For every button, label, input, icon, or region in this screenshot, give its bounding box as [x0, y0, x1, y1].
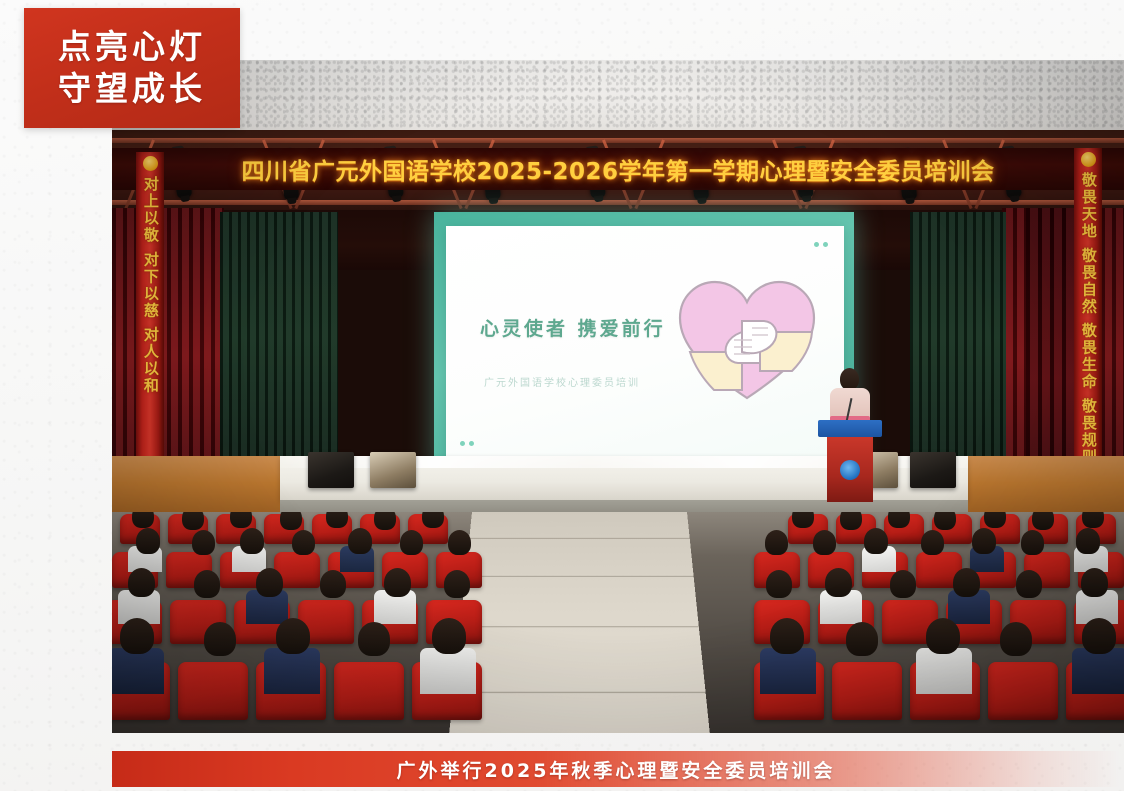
stage-monitor [308, 452, 354, 488]
audience-head [128, 568, 155, 597]
audience-torso [916, 648, 972, 694]
heart-with-hands-icon [672, 266, 822, 416]
stage-banner: 四川省广元外国语学校2025-2026学年第一学期心理暨安全委员培训会 [112, 148, 1124, 190]
audience-head [825, 568, 852, 597]
slide-subtitle: 广元外国语学校心理委员培训 [484, 374, 640, 389]
audience-head [1082, 618, 1116, 654]
audience-area [112, 512, 1124, 733]
slide-title: 心灵使者 携爱前行 [480, 314, 666, 341]
ceiling-surface [112, 60, 1124, 138]
audience-head [204, 622, 236, 656]
audience-head [230, 512, 252, 528]
audience-head [953, 568, 980, 597]
audience-head [194, 570, 220, 598]
audience-head [840, 512, 862, 530]
banner-emblem-icon [1081, 152, 1096, 167]
audience-head [432, 618, 466, 654]
audience-head [256, 568, 283, 597]
side-banner-left-text: 对上以敬 对下以慈 对人以和 [142, 176, 158, 394]
audience-head [1016, 570, 1042, 598]
center-aisle [444, 512, 715, 733]
audience-torso [112, 648, 164, 694]
truss-bar-bottom [112, 200, 1124, 205]
audience-head [182, 512, 204, 530]
badge-line-1: 点亮心灯 [58, 26, 206, 68]
audience-head [348, 528, 372, 554]
audience-head [921, 530, 944, 555]
side-banner-right: 敬畏天地 敬畏自然 敬畏生命 敬畏规则 敬畏孩子 [1074, 148, 1102, 498]
audience-head [765, 530, 788, 555]
audience-head [120, 618, 154, 654]
stage-banner-text: 四川省广元外国语学校2025-2026学年第一学期心理暨安全委员培训会 [241, 152, 994, 186]
slide-dots-icon [814, 242, 828, 247]
audience-head [1081, 568, 1108, 597]
presentation-slide: 心灵使者 携爱前行 广元外国语学校心理委员培训 [446, 226, 844, 462]
audience-head [422, 512, 444, 528]
audience-head [192, 530, 215, 555]
audience-head [136, 528, 160, 554]
audience-head [276, 618, 310, 654]
stage-monitor [370, 452, 416, 488]
seat [178, 662, 248, 720]
seat [832, 662, 902, 720]
audience-head [792, 512, 814, 528]
side-banner-left: 对上以敬 对下以慈 对人以和 [136, 152, 164, 482]
audience-head [358, 622, 390, 656]
audience-head [444, 570, 470, 598]
audience-head [1000, 622, 1032, 656]
audience-head [846, 622, 878, 656]
audience-head [292, 530, 315, 555]
audience-head [770, 618, 804, 654]
audience-torso [1072, 648, 1124, 694]
audience-head [766, 570, 792, 598]
podium [818, 390, 882, 502]
audience-torso [420, 648, 476, 694]
audience-head [888, 512, 910, 528]
slide-dots-icon [460, 441, 474, 446]
audience-head [132, 512, 154, 528]
audience-head [326, 512, 348, 528]
stage-monitor [910, 452, 956, 488]
audience-head [1021, 530, 1044, 555]
audience-head [864, 528, 888, 554]
audience-head [280, 512, 302, 530]
badge-line-2: 守望成长 [58, 68, 206, 110]
banner-emblem-icon [143, 156, 158, 171]
audience-head [926, 618, 960, 654]
caption-text: 广外举行2025年秋季心理暨安全委员培训会 [397, 756, 836, 783]
audience-head [813, 530, 836, 555]
audience-head [240, 528, 264, 554]
seat [334, 662, 404, 720]
news-photo-card: 四川省广元外国语学校2025-2026学年第一学期心理暨安全委员培训会 对上以敬… [0, 0, 1124, 791]
audience-head [972, 528, 996, 554]
projection-screen: 心灵使者 携爱前行 广元外国语学校心理委员培训 [434, 212, 854, 474]
seat [988, 662, 1058, 720]
audience-head [320, 570, 346, 598]
audience-head [1032, 512, 1054, 530]
caption-bar: 广外举行2025年秋季心理暨安全委员培训会 [112, 751, 1120, 787]
audience-head [890, 570, 916, 598]
podium-top [818, 420, 882, 437]
audience-head [1076, 528, 1100, 554]
side-banner-right-text: 敬畏天地 敬畏自然 敬畏生命 敬畏规则 敬畏孩子 [1080, 172, 1096, 498]
audience-head [1082, 512, 1104, 528]
audience-torso [264, 648, 320, 694]
audience-head [984, 512, 1006, 528]
headline-badge: 点亮心灯 守望成长 [24, 8, 240, 128]
audience-torso [760, 648, 816, 694]
audience-head [374, 512, 396, 530]
audience-head [448, 530, 471, 555]
audience-head [400, 530, 423, 555]
auditorium-photo: 四川省广元外国语学校2025-2026学年第一学期心理暨安全委员培训会 对上以敬… [112, 60, 1124, 733]
audience-head [934, 512, 956, 530]
audience-head [384, 568, 411, 597]
speaker-person [840, 368, 859, 390]
school-logo-icon [840, 460, 860, 480]
